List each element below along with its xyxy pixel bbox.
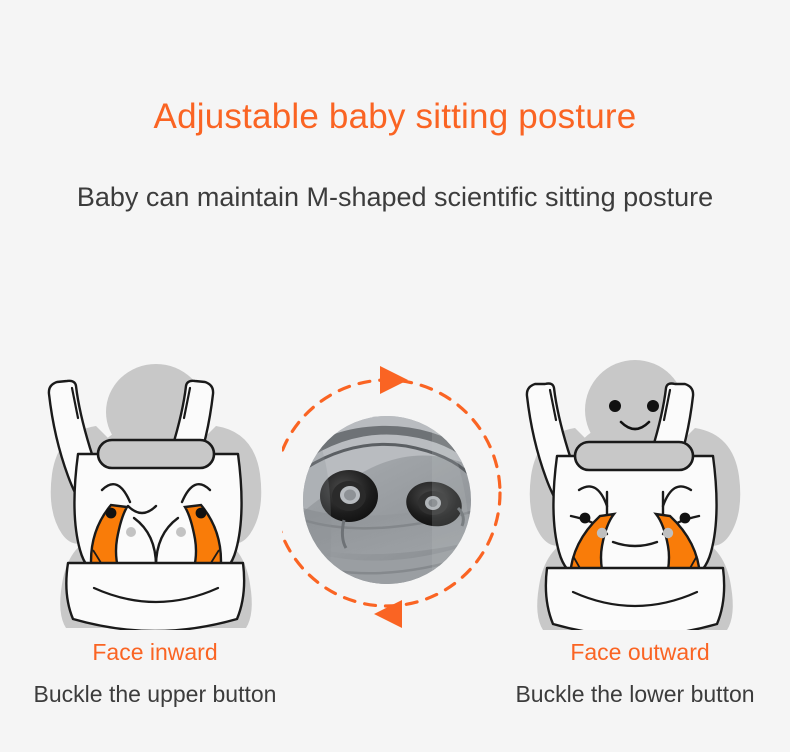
head-rest-pad-right bbox=[575, 442, 693, 470]
head-rest-pad-left bbox=[98, 440, 214, 468]
caption-right-plain: Buckle the lower button bbox=[485, 680, 785, 708]
promo-banner: Adjustable baby sitting posture Baby can… bbox=[0, 0, 790, 752]
baby-carrier-face-outward-icon bbox=[495, 350, 785, 630]
baby-eye-left bbox=[609, 400, 621, 412]
caption-left-accent: Face inward bbox=[10, 638, 300, 666]
page-subtitle: Baby can maintain M-shaped scientific si… bbox=[0, 180, 790, 214]
waist-belt-right bbox=[546, 568, 724, 630]
rotate-arrow-right-icon bbox=[380, 366, 408, 394]
figure-right bbox=[495, 350, 785, 630]
page-title: Adjustable baby sitting posture bbox=[0, 96, 790, 138]
baby-eye-right bbox=[647, 400, 659, 412]
rotate-arrow-left-icon bbox=[374, 600, 402, 628]
snap-button-photo bbox=[303, 416, 471, 584]
caption-right-accent: Face outward bbox=[495, 638, 785, 666]
figure-center bbox=[282, 358, 507, 628]
baby-carrier-face-inward-icon bbox=[10, 350, 300, 630]
caption-left-plain: Buckle the upper button bbox=[5, 680, 305, 708]
rotation-indicator bbox=[282, 358, 507, 628]
waist-belt-left bbox=[66, 563, 244, 630]
figure-left bbox=[10, 350, 300, 630]
